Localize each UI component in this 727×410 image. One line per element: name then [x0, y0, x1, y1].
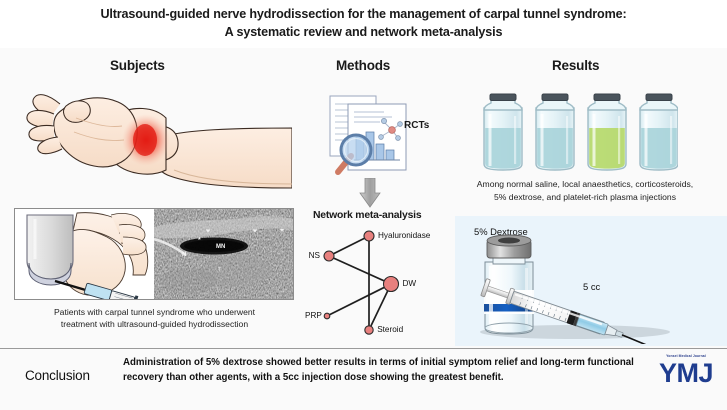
network-label-dw: DW: [403, 279, 417, 288]
vial-2: [536, 94, 574, 170]
title-bar: Ultrasound-guided nerve hydrodissection …: [0, 0, 727, 49]
results-caption-line-2: 5% dextrose, and platelet-rich plasma in…: [494, 192, 676, 202]
network-label-prp: PRP: [305, 311, 320, 320]
network-graph: NSHyaluronidaseDWPRPSteroid: [305, 226, 440, 338]
rcts-label: RCTs: [404, 120, 429, 131]
svg-text:MN: MN: [216, 244, 225, 250]
network-edge: [327, 284, 391, 316]
vial-4: [640, 94, 678, 170]
network-node-ns: [324, 251, 334, 261]
network-node-steroid: [365, 326, 373, 334]
results-caption: Among normal saline, local anaesthetics,…: [451, 178, 719, 204]
heading-subjects: Subjects: [110, 58, 165, 73]
ultrasound-panel: N * MN T: [14, 208, 294, 300]
vials-illustration: [478, 88, 678, 172]
subjects-caption-line-1: Patients with carpal tunnel syndrome who…: [54, 307, 255, 317]
results-caption-line-1: Among normal saline, local anaesthetics,…: [477, 179, 693, 189]
probe-injection-illustration: [15, 209, 154, 299]
dose-label: 5 cc: [583, 281, 600, 292]
conclusion-text: Administration of 5% dextrose showed bet…: [123, 356, 638, 385]
wrist-pain-illustration: [14, 84, 292, 202]
vial-1: [484, 94, 522, 170]
conclusion-label: Conclusion: [25, 368, 90, 383]
title-line-2: A systematic review and network meta-ana…: [225, 25, 503, 39]
title-line-1: Ultrasound-guided nerve hydrodissection …: [100, 7, 626, 21]
page-title: Ultrasound-guided nerve hydrodissection …: [86, 6, 640, 42]
ymj-logo-acronym: YMJ: [652, 358, 720, 389]
svg-text:N: N: [182, 252, 186, 258]
network-label-steroid: Steroid: [377, 325, 403, 334]
svg-text:*: *: [198, 237, 201, 244]
network-node-hyaluronidase: [364, 231, 374, 241]
network-meta-analysis-title: Network meta-analysis: [313, 210, 421, 221]
graphical-abstract: Ultrasound-guided nerve hydrodissection …: [0, 0, 727, 409]
ultrasound-image: N * MN T: [154, 209, 293, 299]
network-label-hyaluronidase: Hyaluronidase: [378, 231, 430, 240]
heading-results: Results: [552, 58, 599, 73]
network-label-ns: NS: [305, 251, 320, 260]
subjects-caption-line-2: treatment with ultrasound-guided hydrodi…: [61, 319, 248, 329]
network-node-dw: [384, 277, 399, 292]
network-node-prp: [324, 313, 330, 319]
vial-3: [588, 94, 626, 170]
down-arrow-icon: [359, 178, 381, 208]
network-edge: [329, 256, 391, 284]
rcts-illustration: [318, 92, 448, 180]
network-edge: [329, 236, 369, 256]
ymj-logo: Yonsei Medical Journal YMJ: [652, 354, 720, 396]
subjects-caption: Patients with carpal tunnel syndrome who…: [12, 306, 297, 331]
heading-methods: Methods: [336, 58, 390, 73]
